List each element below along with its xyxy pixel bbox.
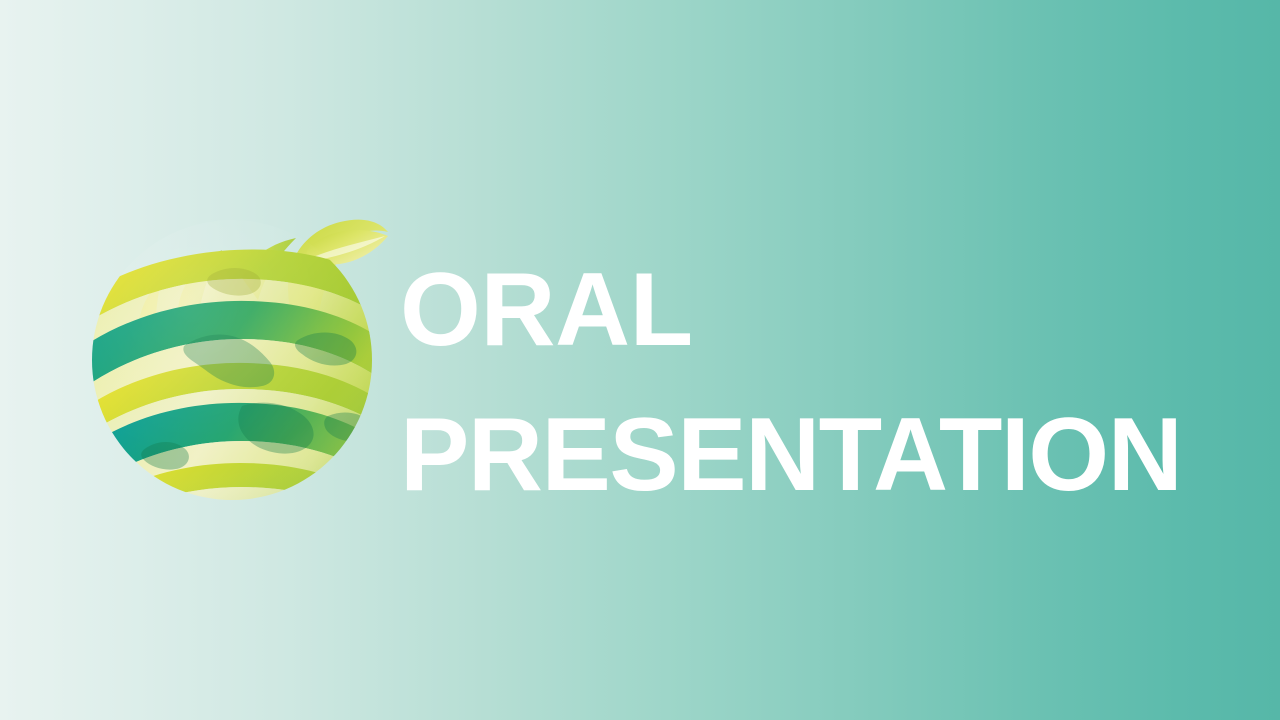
- globe-leaf-logo: [92, 200, 392, 520]
- title-line-oral: ORAL: [400, 238, 1200, 383]
- presentation-slide: ORAL PRESENTATION: [0, 0, 1280, 720]
- title-line-presentation: PRESENTATION: [400, 383, 1200, 528]
- page-title: ORAL PRESENTATION: [400, 238, 1200, 528]
